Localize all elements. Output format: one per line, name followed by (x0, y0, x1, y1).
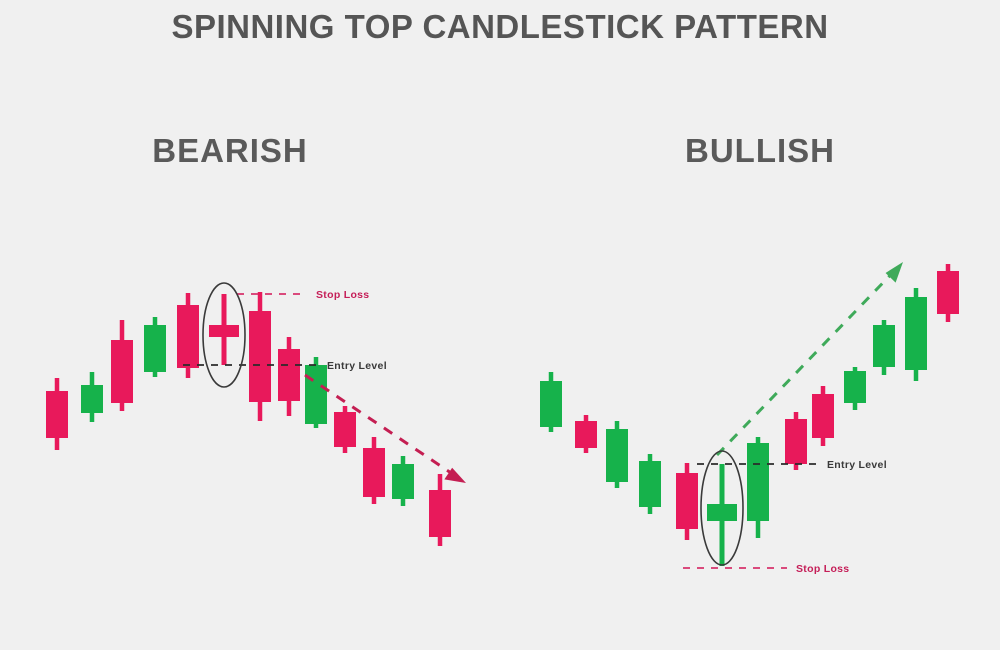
candle-bearish-1 (81, 372, 103, 422)
candle-bearish-3 (144, 317, 166, 377)
candle-bullish-7 (785, 412, 807, 470)
candle-bearish-0 (46, 378, 68, 450)
candle-bullish-9 (844, 367, 866, 410)
candle-bullish-10 (873, 320, 895, 375)
candle-body (747, 443, 769, 521)
candle-body (575, 421, 597, 448)
candle-body (905, 297, 927, 370)
candle-bullish-11 (905, 288, 927, 381)
bearish-chart-group: Stop LossEntry Level (46, 283, 466, 546)
candle-bearish-6 (249, 292, 271, 421)
candle-bearish-12 (429, 474, 451, 546)
diagram-canvas: SPINNING TOP CANDLESTICK PATTERN BEARISH… (0, 0, 1000, 650)
candle-body (46, 391, 68, 438)
candle-bearish-7 (278, 337, 300, 416)
candle-bearish-2 (111, 320, 133, 411)
candle-body (392, 464, 414, 499)
candle-body (111, 340, 133, 403)
uptrend-arrow-head (886, 262, 903, 283)
candle-bearish-11 (392, 456, 414, 506)
candle-bullish-1 (575, 415, 597, 453)
spinning-top-candle-bearish-5 (209, 294, 239, 365)
candle-body (209, 325, 239, 337)
candle-body (177, 305, 199, 368)
candle-bullish-8 (812, 386, 834, 446)
candle-body (639, 461, 661, 507)
candle-body (305, 365, 327, 424)
entry-level-label: Entry Level (827, 459, 887, 471)
candle-body (429, 490, 451, 537)
entry-level-label: Entry Level (327, 360, 387, 372)
bullish-chart-group: Entry LevelStop Loss (540, 262, 959, 575)
candle-bullish-3 (639, 454, 661, 514)
candle-bullish-6 (747, 437, 769, 538)
candle-body (278, 349, 300, 401)
spinning-top-candle-bullish-5 (707, 464, 737, 566)
stop-loss-label: Stop Loss (316, 289, 369, 301)
candle-body (606, 429, 628, 482)
candle-body (812, 394, 834, 438)
candle-body (144, 325, 166, 372)
candle-body (363, 448, 385, 497)
stop-loss-label: Stop Loss (796, 563, 849, 575)
candle-body (844, 371, 866, 403)
candle-bullish-4 (676, 463, 698, 540)
candle-body (707, 504, 737, 521)
candle-bearish-10 (363, 437, 385, 504)
candle-bearish-8 (305, 357, 327, 428)
candle-body (785, 419, 807, 464)
candlestick-chart-svg: Stop LossEntry Level Entry LevelStop Los… (0, 0, 1000, 650)
candle-bullish-0 (540, 372, 562, 432)
candle-body (81, 385, 103, 413)
candle-bullish-2 (606, 421, 628, 488)
candle-bullish-12 (937, 264, 959, 322)
candle-bearish-9 (334, 406, 356, 453)
candle-body (540, 381, 562, 427)
candle-body (873, 325, 895, 367)
candle-body (249, 311, 271, 402)
candle-body (676, 473, 698, 529)
candle-body (334, 412, 356, 447)
candle-body (937, 271, 959, 314)
